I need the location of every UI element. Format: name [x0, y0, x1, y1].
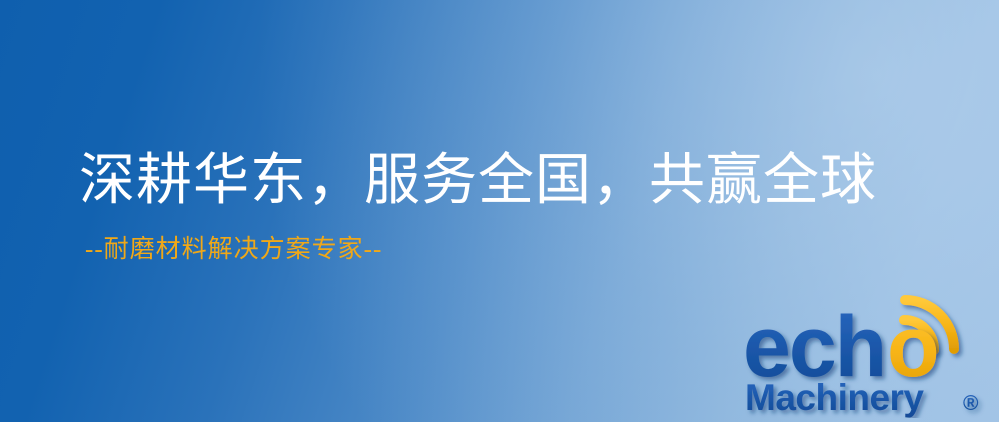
logo-subtext: Machinery — [745, 377, 924, 418]
hero-banner: 深耕华东，服务全国，共赢全球 --耐磨材料解决方案专家-- — [0, 0, 999, 422]
banner-subtitle: --耐磨材料解决方案专家-- — [85, 236, 877, 264]
page-title: 深耕华东，服务全国，共赢全球 — [79, 148, 877, 214]
registered-trademark-icon: ® — [963, 392, 979, 415]
banner-text-block: 深耕华东，服务全国，共赢全球 --耐磨材料解决方案专家-- — [79, 148, 877, 264]
echo-machinery-logo[interactable]: ech o Machinery ® — [741, 292, 993, 418]
